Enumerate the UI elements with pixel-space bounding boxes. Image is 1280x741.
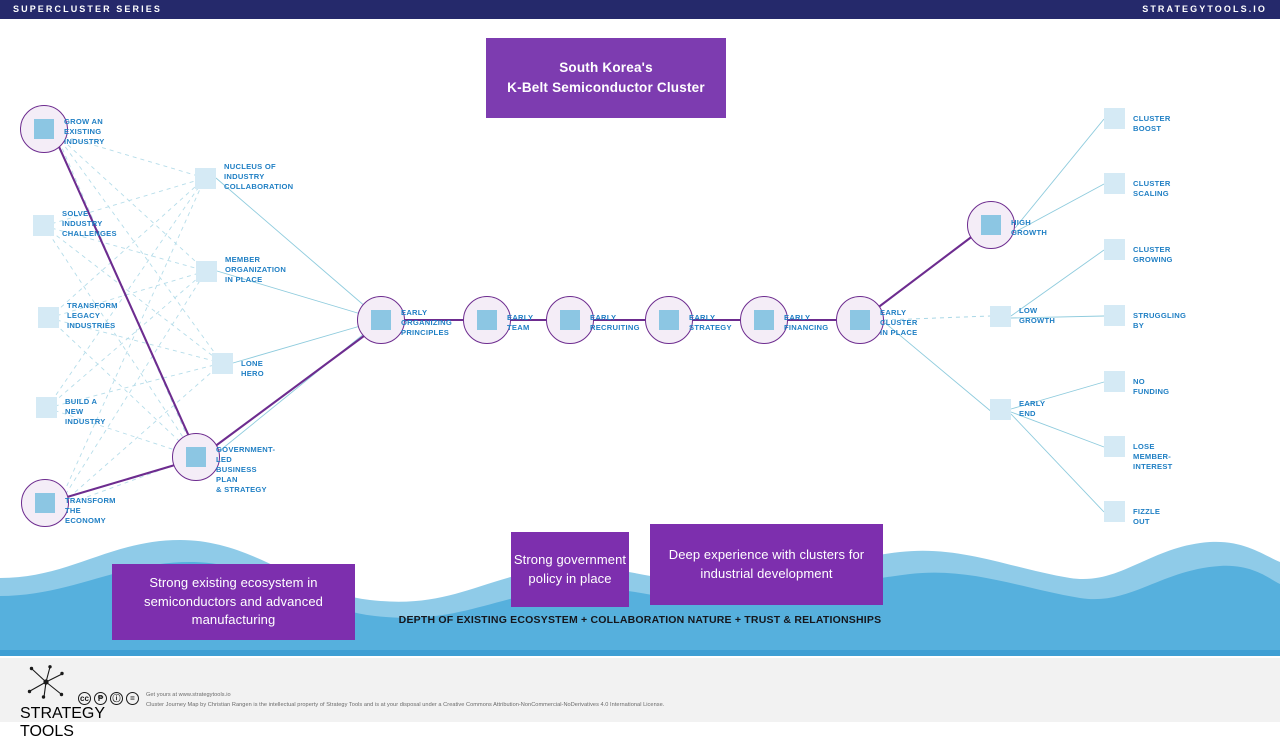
top-bar: SUPERCLUSTER SERIES STRATEGYTOOLS.IO [0,0,1280,19]
callout-ecosystem: Strong existing ecosystem in semiconduct… [112,564,355,640]
creative-commons-badges: cc ₱ ⓘ = [78,692,139,705]
depth-caption: DEPTH OF EXISTING ECOSYSTEM + COLLABORAT… [0,614,1280,626]
node-label: EARLY FINANCING [784,313,828,333]
node-square [560,310,580,330]
footer-license: Cluster Journey Map by Christian Rangen … [146,701,664,711]
node-square [1104,305,1125,326]
node-label: EARLY ORGANIZING PRINCIPLES [401,308,452,338]
node-square [196,261,217,282]
starburst-icon [20,664,72,700]
node-label: STRUGGLING BY [1133,311,1186,331]
node-square [990,399,1011,420]
node-square [38,307,59,328]
title-card: South Korea's K-Belt Semiconductor Clust… [486,38,726,118]
footer-get-yours: Get yours at www.strategytools.io [146,691,664,701]
node-square [659,310,679,330]
callout-text: Strong government policy in place [511,551,629,589]
callout-text: Deep experience with clusters for indust… [650,546,883,584]
node-label: EARLY STRATEGY [689,313,732,333]
node-label: NO FUNDING [1133,377,1169,397]
noderivatives-icon: = [126,692,139,705]
node-label: SOLVE INDUSTRY CHALLENGES [62,209,117,239]
callout-experience: Deep experience with clusters for indust… [650,524,883,605]
title-line-1: South Korea's [507,58,705,78]
node-label: EARLY END [1019,399,1045,419]
brand-label: STRATEGYTOOLS.IO [1142,4,1267,14]
node-square [754,310,774,330]
node-square [990,306,1011,327]
node-square [371,310,391,330]
node-square [1104,371,1125,392]
node-label: EARLY TEAM [507,313,533,333]
callout-policy: Strong government policy in place [511,532,629,607]
logo-word-2: TOOLS [20,723,72,741]
node-label: CLUSTER GROWING [1133,245,1173,265]
node-square [35,493,55,513]
node-square [1104,436,1125,457]
node-label: MEMBER ORGANIZATION IN PLACE [225,255,286,285]
footer-bar [0,656,1280,722]
node-label: FIZZLE OUT [1133,507,1160,527]
node-label: BUILD A NEW INDUSTRY [65,397,106,427]
node-square [36,397,57,418]
node-square [1104,239,1125,260]
title-line-2: K-Belt Semiconductor Cluster [507,78,705,98]
node-square [981,215,1001,235]
node-label: LOW GROWTH [1019,306,1055,326]
series-label: SUPERCLUSTER SERIES [13,4,162,14]
node-label: GOVERNMENT-LED BUSINESS PLAN & STRATEGY [216,445,275,495]
node-label: TRANSFORM THE ECONOMY [65,496,116,526]
strategy-tools-logo: STRATEGY TOOLS [20,664,72,712]
node-square [34,119,54,139]
noncommercial-icon: ₱ [94,692,107,705]
node-label: LONE HERO [241,359,264,379]
node-label: CLUSTER SCALING [1133,179,1171,199]
node-square [212,353,233,374]
node-square [1104,501,1125,522]
cc-icon: cc [78,692,91,705]
node-label: HIGH GROWTH [1011,218,1047,238]
node-label: EARLY CLUSTER IN PLACE [880,308,918,338]
logo-wordmark: STRATEGY TOOLS [20,705,72,741]
node-square [195,168,216,189]
node-label: TRANSFORM LEGACY INDUSTRIES [67,301,118,331]
logo-word-1: STRATEGY [20,705,72,723]
attribution-icon: ⓘ [110,692,123,705]
node-square [477,310,497,330]
node-label: CLUSTER BOOST [1133,114,1171,134]
node-label: EARLY RECRUITING [590,313,640,333]
node-square [1104,173,1125,194]
node-label: GROW AN EXISTING INDUSTRY [64,117,105,147]
node-label: LOSE MEMBER-INTEREST [1133,442,1173,472]
node-square [186,447,206,467]
node-square [1104,108,1125,129]
node-label: NUCLEUS OF INDUSTRY COLLABORATION [224,162,293,192]
node-square [850,310,870,330]
node-square [33,215,54,236]
poster-canvas: SUPERCLUSTER SERIES STRATEGYTOOLS.IO [0,0,1280,720]
footer-fine-print: Get yours at www.strategytools.io Cluste… [146,691,664,711]
